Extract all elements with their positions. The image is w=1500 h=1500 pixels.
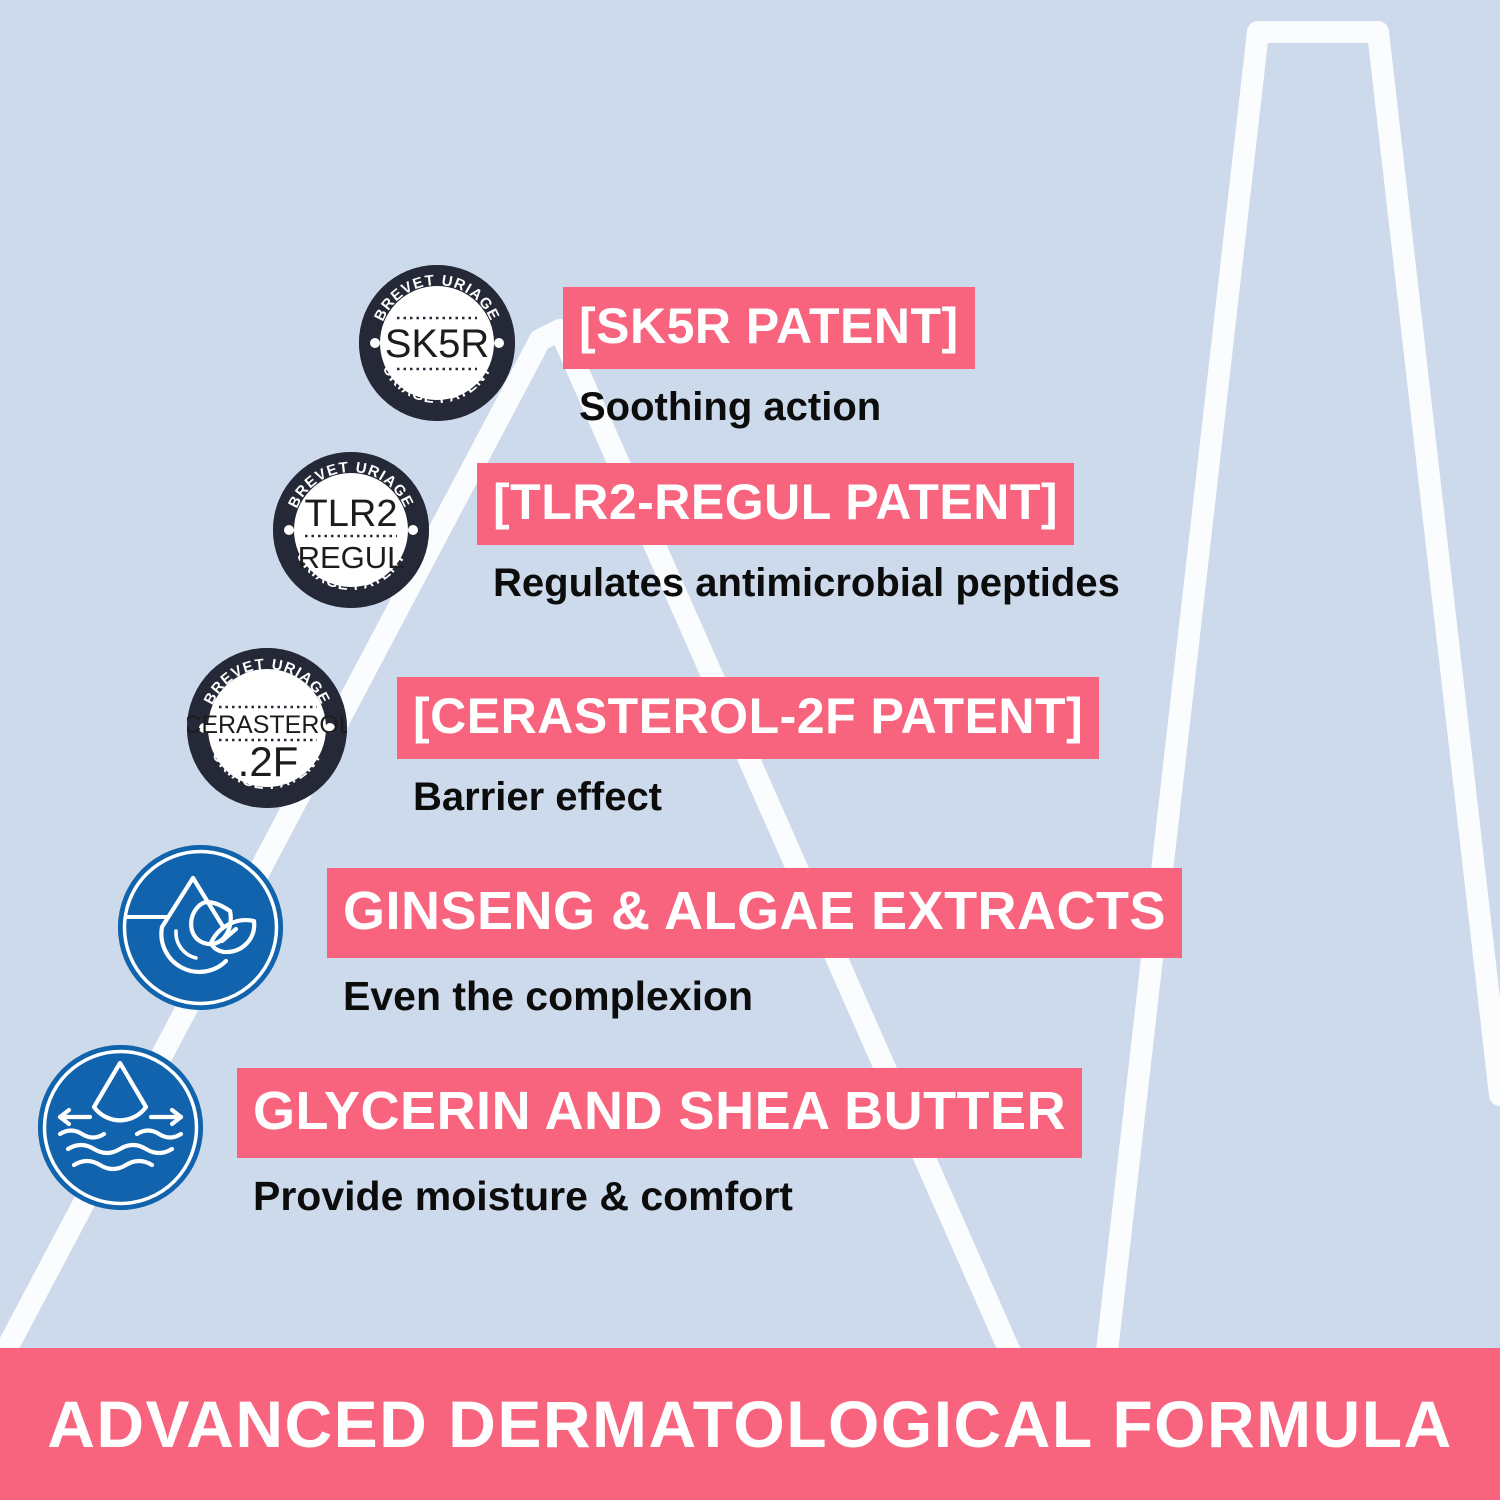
svg-text:TLR2: TLR2 <box>305 493 398 535</box>
row-cerasterol-subtitle: Barrier effect <box>413 777 1099 817</box>
svg-text:SK5R: SK5R <box>385 322 490 366</box>
svg-text:.2F: .2F <box>238 738 299 785</box>
row-tlr2-subtitle: Regulates antimicrobial peptides <box>493 563 1120 603</box>
patent-badge-tlr2-regul: BREVET URIAGE URIAGE PATENT TLR2 REGUL <box>273 452 429 608</box>
row-sk5r-text: [SK5R PATENT] Soothing action <box>563 287 975 427</box>
row-sk5r-banner: [SK5R PATENT] <box>563 287 975 369</box>
footer-title: ADVANCED DERMATOLOGICAL FORMULA <box>47 1386 1453 1462</box>
row-ginseng-banner: GINSENG & ALGAE EXTRACTS <box>327 868 1182 958</box>
water-drop-leaf-icon <box>118 845 283 1010</box>
footer-banner: ADVANCED DERMATOLOGICAL FORMULA <box>0 1348 1500 1500</box>
patent-badge-cerasterol-2f: BREVET URIAGE URIAGE PATENT CERASTEROL .… <box>187 648 347 808</box>
water-drop-waves-icon <box>38 1045 203 1210</box>
row-glycerin-text: GLYCERIN AND SHEA BUTTER Provide moistur… <box>237 1068 1082 1217</box>
svg-text:CERASTEROL: CERASTEROL <box>187 711 347 739</box>
row-glycerin-banner: GLYCERIN AND SHEA BUTTER <box>237 1068 1082 1158</box>
row-cerasterol-text: [CERASTEROL-2F PATENT] Barrier effect <box>397 677 1099 817</box>
row-cerasterol-banner: [CERASTEROL-2F PATENT] <box>397 677 1099 759</box>
row-glycerin-subtitle: Provide moisture & comfort <box>253 1176 1082 1217</box>
row-tlr2-text: [TLR2-REGUL PATENT] Regulates antimicrob… <box>477 463 1120 603</box>
row-ginseng-subtitle: Even the complexion <box>343 976 1182 1017</box>
row-tlr2-banner: [TLR2-REGUL PATENT] <box>477 463 1074 545</box>
row-ginseng-text: GINSENG & ALGAE EXTRACTS Even the comple… <box>327 868 1182 1017</box>
patent-badge-sk5r: BREVET URIAGE URIAGE PATENT SK5R <box>359 265 515 421</box>
svg-text:REGUL: REGUL <box>298 540 405 575</box>
row-sk5r-subtitle: Soothing action <box>579 387 975 427</box>
infographic-canvas: BREVET URIAGE URIAGE PATENT SK5R [SK5R P… <box>0 0 1500 1500</box>
